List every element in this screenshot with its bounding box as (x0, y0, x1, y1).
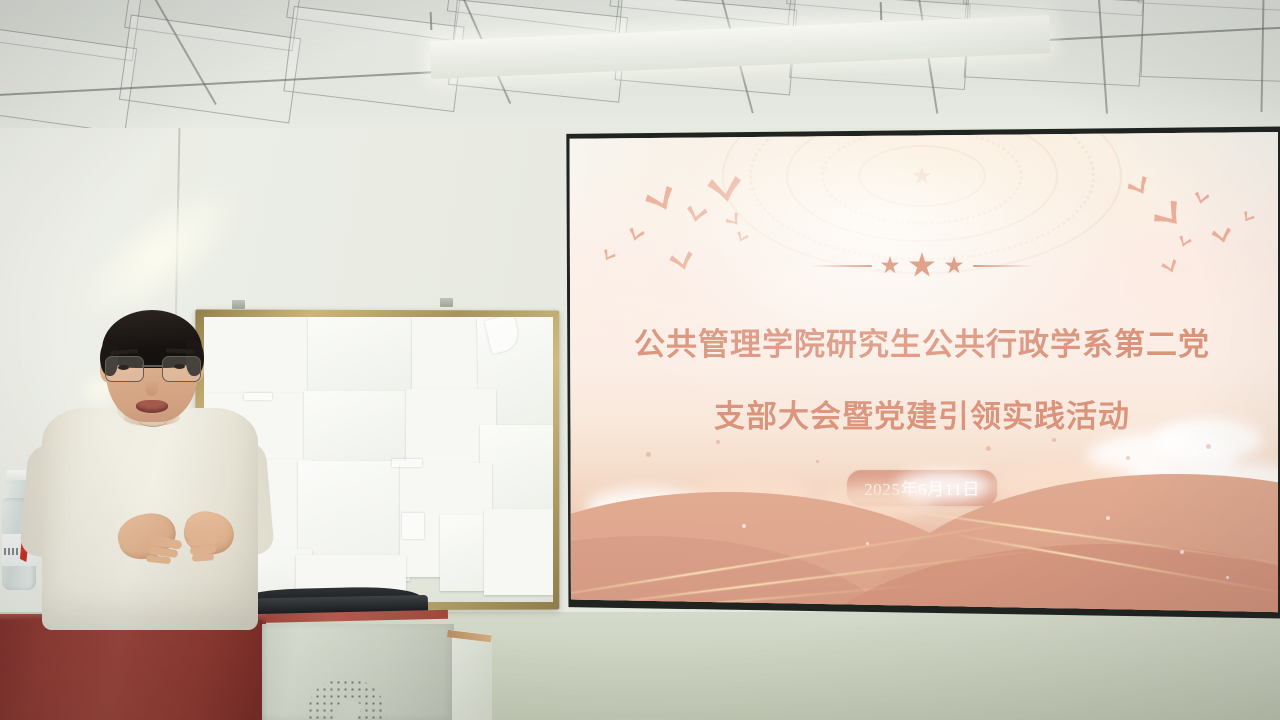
divider-line-right (973, 265, 1035, 267)
presentation-slide: 公共管理学院研究生公共行政学系第二党 支部大会暨党建引领实践活动 2025年6月… (566, 132, 1278, 616)
glasses-bridge (142, 365, 162, 367)
lectern (0, 620, 262, 720)
hills-layer (566, 426, 1278, 616)
star-icon-small-right (945, 256, 964, 275)
classroom-photo-scene: 公共管理学院研究生公共行政学系第二党 支部大会暨党建引领实践活动 2025年6月… (0, 0, 1280, 720)
lens-right (162, 356, 201, 382)
suspended-ceiling (0, 0, 1280, 128)
eye-right (174, 364, 185, 369)
nose (145, 380, 158, 396)
speaker-cabinet-side (452, 630, 492, 720)
slide-title-line-1: 公共管理学院研究生公共行政学系第二党 (566, 322, 1278, 368)
projection-screen: 公共管理学院研究生公共行政学系第二党 支部大会暨党建引领实践活动 2025年6月… (562, 126, 1280, 622)
divider-line-left (810, 265, 872, 267)
star-icon-large-center (909, 252, 936, 279)
presenter (8, 300, 288, 630)
screen-surface: 公共管理学院研究生公共行政学系第二党 支部大会暨党建引领实践活动 2025年6月… (566, 132, 1278, 616)
chin (124, 410, 180, 426)
eye-left (118, 365, 129, 370)
stars-divider (566, 252, 1278, 279)
star-icon-small-left (881, 256, 900, 275)
